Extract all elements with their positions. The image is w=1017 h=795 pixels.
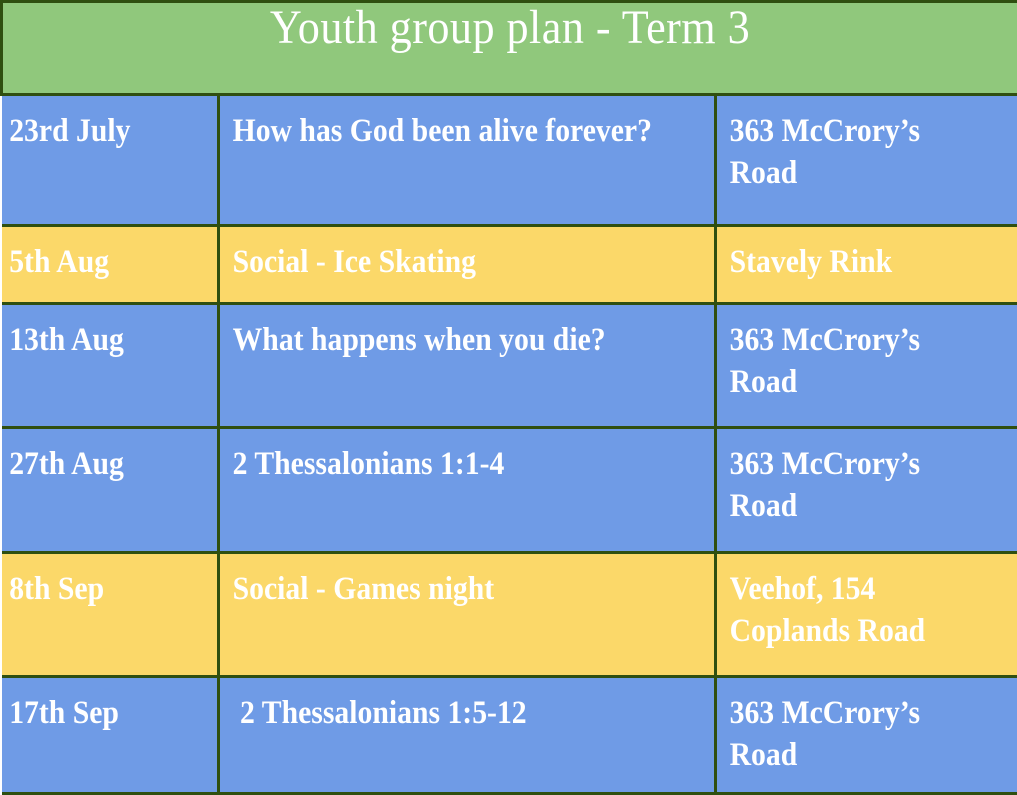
table-row: 5th Aug Social - Ice Skating Stavely Rin… — [2, 226, 1017, 304]
row-topic-cell: Social - Ice Skating — [219, 226, 716, 304]
row-location-text: 363 McCrory’s Road — [717, 305, 988, 419]
row-location-text: 363 McCrory’s Road — [717, 678, 988, 792]
row-location-text: 363 McCrory’s Road — [717, 429, 988, 543]
row-date-cell: 23rd July — [2, 95, 219, 226]
row-topic-text: 2 Thessalonians 1:5-12 — [220, 678, 665, 750]
row-location-text: Stavely Rink — [717, 227, 988, 299]
row-topic-cell: 2 Thessalonians 1:1-4 — [219, 428, 716, 553]
row-topic-text: What happens when you die? — [220, 305, 665, 377]
row-date-text: 8th Sep — [2, 554, 196, 626]
youth-group-schedule-table: Youth group plan - Term 3 23rd July How … — [0, 0, 1017, 795]
row-topic-cell: What happens when you die? — [219, 304, 716, 428]
table-row: 17th Sep 2 Thessalonians 1:5-12 363 McCr… — [2, 677, 1017, 794]
page-title-text: Youth group plan - Term 3 — [44, 3, 977, 53]
row-topic-text: Social - Games night — [220, 554, 665, 626]
row-date-cell: 13th Aug — [2, 304, 219, 428]
table-header-row: Youth group plan - Term 3 — [2, 2, 1017, 95]
row-location-text: Veehof, 154 Coplands Road — [717, 554, 988, 668]
table-row: 8th Sep Social - Games night Veehof, 154… — [2, 553, 1017, 677]
row-location-text: 363 McCrory’s Road — [717, 96, 988, 210]
row-topic-text: Social - Ice Skating — [220, 227, 665, 299]
row-date-text: 5th Aug — [2, 227, 196, 299]
row-date-text: 13th Aug — [2, 305, 196, 377]
row-topic-cell: How has God been alive forever? — [219, 95, 716, 226]
row-date-cell: 5th Aug — [2, 226, 219, 304]
table-row: 13th Aug What happens when you die? 363 … — [2, 304, 1017, 428]
row-location-cell: 363 McCrory’s Road — [716, 304, 1017, 428]
row-date-cell: 8th Sep — [2, 553, 219, 677]
table-row: 23rd July How has God been alive forever… — [2, 95, 1017, 226]
row-topic-text: How has God been alive forever? — [220, 96, 665, 168]
table-row: 27th Aug 2 Thessalonians 1:1-4 363 McCro… — [2, 428, 1017, 553]
page-title: Youth group plan - Term 3 — [2, 2, 1017, 95]
row-date-cell: 17th Sep — [2, 677, 219, 794]
row-date-cell: 27th Aug — [2, 428, 219, 553]
row-topic-cell: Social - Games night — [219, 553, 716, 677]
row-location-cell: Veehof, 154 Coplands Road — [716, 553, 1017, 677]
row-location-cell: 363 McCrory’s Road — [716, 428, 1017, 553]
row-location-cell: 363 McCrory’s Road — [716, 95, 1017, 226]
row-location-cell: Stavely Rink — [716, 226, 1017, 304]
row-topic-cell: 2 Thessalonians 1:5-12 — [219, 677, 716, 794]
row-location-cell: 363 McCrory’s Road — [716, 677, 1017, 794]
row-date-text: 27th Aug — [2, 429, 196, 501]
row-date-text: 17th Sep — [2, 678, 196, 750]
row-topic-text: 2 Thessalonians 1:1-4 — [220, 429, 665, 501]
schedule-body: 23rd July How has God been alive forever… — [2, 95, 1017, 794]
row-date-text: 23rd July — [2, 96, 196, 168]
